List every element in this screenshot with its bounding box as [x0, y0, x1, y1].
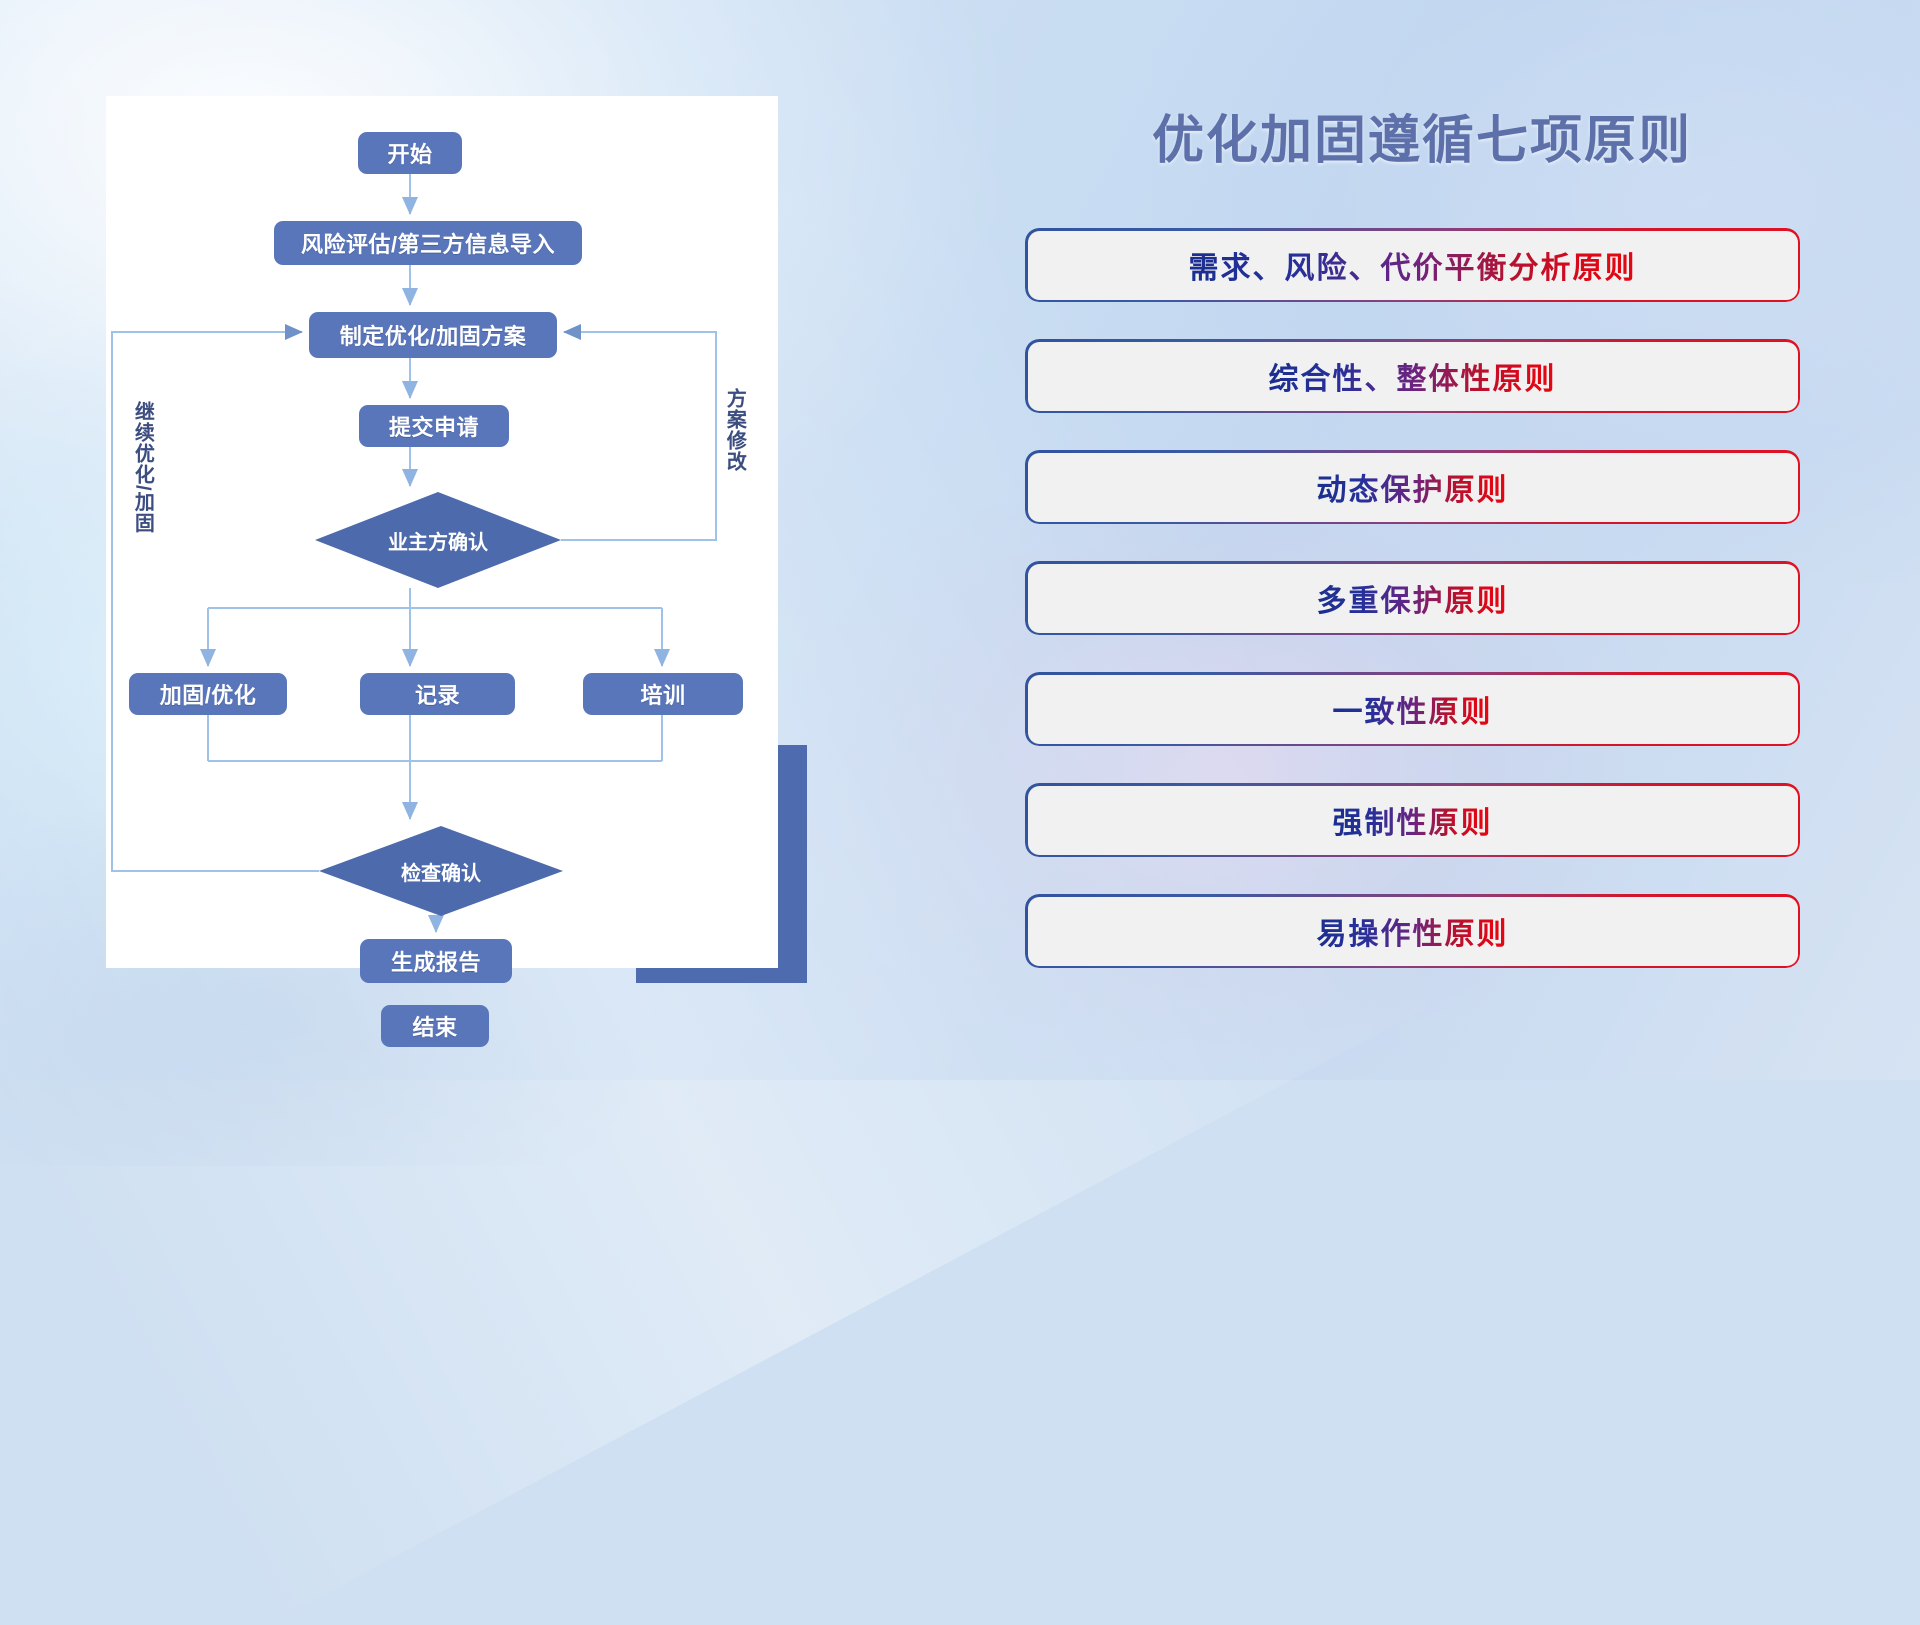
flow-node-make-plan[interactable]: 制定优化/加固方案: [309, 312, 557, 358]
principle-card[interactable]: 多重保护原则: [1025, 561, 1800, 635]
flow-edge-label-plan-revision: 方案修改: [724, 388, 744, 472]
flow-node-end[interactable]: 结束: [381, 1005, 489, 1047]
flow-node-start[interactable]: 开始: [358, 132, 462, 174]
flow-node-harden-optimize[interactable]: 加固/优化: [129, 673, 287, 715]
flow-node-label: 业主方确认: [388, 526, 488, 555]
principle-card-label: 综合性、整体性原则: [1269, 354, 1557, 398]
flow-node-label: 记录: [415, 678, 460, 710]
principle-card[interactable]: 易操作性原则: [1025, 894, 1800, 968]
principle-card-label: 需求、风险、代价平衡分析原则: [1189, 243, 1637, 287]
principle-card-label: 多重保护原则: [1317, 576, 1509, 620]
flow-node-label: 开始: [387, 137, 432, 169]
flow-decision-owner-confirm[interactable]: 业主方确认: [315, 492, 561, 588]
principles-list: 需求、风险、代价平衡分析原则 综合性、整体性原则 动态保护原则 多重保护原则 一…: [1025, 228, 1800, 1005]
flow-node-generate-report[interactable]: 生成报告: [360, 939, 512, 983]
flow-node-label: 生成报告: [391, 945, 481, 977]
principle-card-label: 强制性原则: [1333, 798, 1493, 842]
flowchart-panel: 开始 风险评估/第三方信息导入 制定优化/加固方案 提交申请 业主方确认 加固/…: [106, 96, 778, 968]
principle-card[interactable]: 一致性原则: [1025, 672, 1800, 746]
principle-card-label: 易操作性原则: [1317, 909, 1509, 953]
flow-edge-label-continue-optimize: 继续优化/加固: [132, 401, 152, 534]
principle-card[interactable]: 强制性原则: [1025, 783, 1800, 857]
flow-node-label: 培训: [640, 678, 685, 710]
page-title: 优化加固遵循七项原则: [1152, 98, 1692, 173]
flow-node-record[interactable]: 记录: [360, 673, 515, 715]
principle-card[interactable]: 动态保护原则: [1025, 450, 1800, 524]
principle-card-label: 动态保护原则: [1317, 465, 1509, 509]
flow-node-risk-assessment[interactable]: 风险评估/第三方信息导入: [274, 221, 582, 265]
principle-card[interactable]: 需求、风险、代价平衡分析原则: [1025, 228, 1800, 302]
flow-node-submit-application[interactable]: 提交申请: [359, 405, 509, 447]
flow-node-label: 制定优化/加固方案: [340, 319, 527, 351]
flow-node-label: 检查确认: [401, 857, 481, 886]
flow-node-training[interactable]: 培训: [583, 673, 743, 715]
flow-node-label: 风险评估/第三方信息导入: [301, 227, 555, 259]
flow-node-label: 提交申请: [389, 410, 479, 442]
flow-decision-inspection-confirm[interactable]: 检查确认: [319, 826, 563, 916]
principle-card-label: 一致性原则: [1333, 687, 1493, 731]
flow-node-label: 加固/优化: [160, 678, 257, 710]
principle-card[interactable]: 综合性、整体性原则: [1025, 339, 1800, 413]
flow-node-label: 结束: [412, 1010, 457, 1042]
